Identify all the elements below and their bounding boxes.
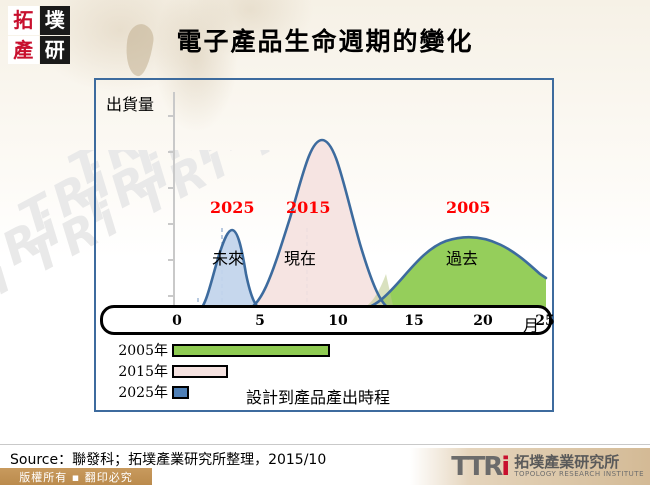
series-era-label-2025: 未來 — [212, 249, 244, 268]
lifecycle-curves-svg: 2025 未來 2015 現在 2005 過去 — [94, 78, 556, 338]
tri-name-block: 拓墣產業研究所 TOPOLOGY RESEARCH INSTITUTE — [514, 455, 644, 478]
legend-row-2025: 2025年 — [100, 383, 189, 401]
x-tick-0: 0 — [172, 313, 182, 329]
tri-footer-logo: TTRi 拓墣產業研究所 TOPOLOGY RESEARCH INSTITUTE — [451, 452, 644, 482]
legend-bar-2025 — [172, 386, 189, 399]
x-axis-box: 0 5 10 15 20 25 月 — [100, 305, 552, 335]
legend-row-2015: 2015年 — [100, 362, 228, 380]
series-year-label-2005: 2005 — [446, 198, 491, 217]
page-title: 電子產品生命週期的變化 — [0, 22, 650, 58]
series-year-label-2015: 2015 — [286, 198, 331, 217]
legend-row-2005: 2005年 — [100, 341, 330, 359]
x-tick-10: 10 — [328, 313, 347, 329]
x-axis-unit-label: 月 — [523, 312, 539, 336]
tri-wordmark-accent: i — [501, 452, 508, 482]
chart-plot-area: 出貨量 2025 未來 2 — [94, 78, 556, 338]
footer-divider — [0, 444, 650, 445]
copyright-bar: 版權所有 ▪ 翻印必究 — [0, 468, 152, 485]
source-text: Source：聯發科；拓墣產業研究所整理，2015/10 — [10, 449, 326, 469]
tri-name-chinese: 拓墣產業研究所 — [514, 455, 644, 471]
tri-wordmark-letters: TTR — [451, 452, 501, 482]
series-year-label-2025: 2025 — [210, 198, 255, 217]
legend-bar-2005 — [172, 344, 330, 357]
legend-bar-2015 — [172, 365, 228, 378]
tri-wordmark: TTRi — [451, 454, 508, 480]
legend-gantt: 2005年 2015年 2025年 設計到產品產出時程 — [100, 341, 552, 405]
legend-caption: 設計到產品產出時程 — [246, 384, 390, 408]
series-era-label-2005: 過去 — [446, 249, 478, 268]
x-tick-20: 20 — [473, 313, 492, 329]
curve-area-2025 — [198, 230, 264, 310]
x-tick-5: 5 — [255, 313, 265, 329]
series-era-label-2015: 現在 — [284, 249, 316, 268]
legend-label-2015: 2015年 — [100, 361, 172, 381]
legend-label-2025: 2025年 — [100, 382, 172, 402]
legend-label-2005: 2005年 — [100, 340, 172, 360]
tri-name-english: TOPOLOGY RESEARCH INSTITUTE — [514, 471, 644, 478]
x-tick-15: 15 — [404, 313, 423, 329]
